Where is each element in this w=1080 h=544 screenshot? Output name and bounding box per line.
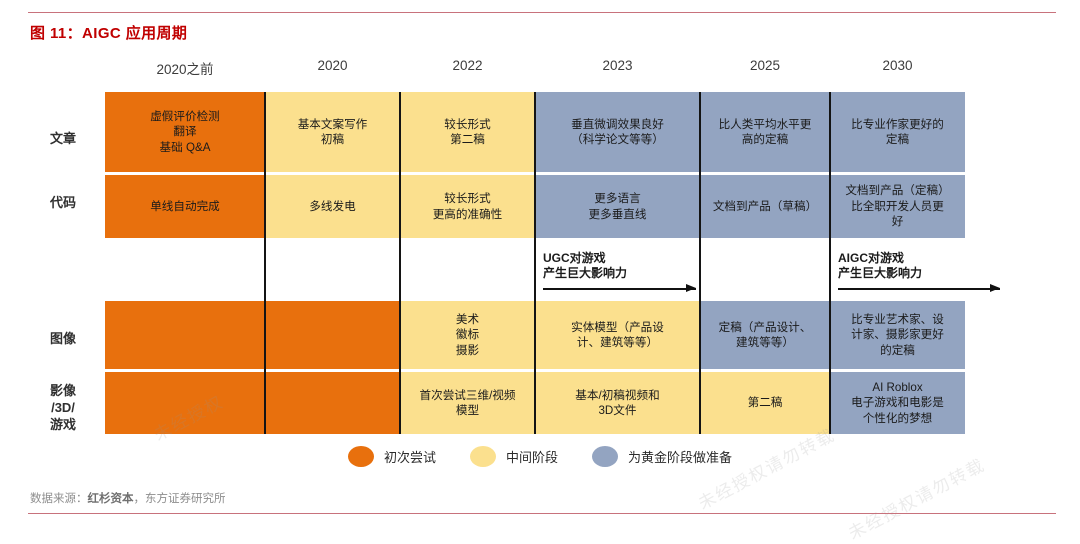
row-label-video-3d-games: 影像/3D/游戏 [24,382,102,433]
table-cell: 实体模型（产品设计、建筑等等） [535,301,700,369]
annotation-arrow-ugc [543,284,696,293]
column-header-2023: 2023 [535,58,700,73]
table-cell: 较长形式更高的准确性 [400,175,535,238]
row-label-images: 图像 [24,330,102,347]
figure-container: 图 11：AIGC 应用周期 2020之前 2020 2022 2023 202… [0,0,1080,522]
source-prefix: 数据来源： [30,493,88,505]
legend-item-intermediate: 中间阶段 [470,446,558,467]
column-divider [399,92,401,434]
table-cell: 多线发电 [265,175,400,238]
table-cell: 比人类平均水平更高的定稿 [700,92,830,172]
table-cell: 虚假评价检测翻译基础 Q&A [105,92,265,172]
annotation-aigc-impact: AIGC对游戏产生巨大影响力 [838,251,922,281]
column-divider [829,92,831,434]
table-cell: 文档到产品（定稿）比全职开发人员更好 [830,175,965,238]
table-cell: 比专业作家更好的定稿 [830,92,965,172]
table-cell [105,301,265,369]
watermark: 未经授权请勿转载 [693,421,839,514]
table-cell [265,372,400,434]
row-label-code: 代码 [24,194,102,211]
table-cell: 文档到产品（草稿） [700,175,830,238]
table-cell: 基本/初稿视频和3D文件 [535,372,700,434]
legend: 初次尝试 中间阶段 为黄金阶段做准备 [0,446,1080,467]
column-header-2022: 2022 [400,58,535,73]
source-rest: ，东方证券研究所 [134,493,226,505]
table-cell: 比专业艺术家、设计家、摄影家更好的定稿 [830,301,965,369]
legend-label: 中间阶段 [506,447,558,466]
column-header-2025: 2025 [700,58,830,73]
aigc-application-cycle-chart: 2020之前 2020 2022 2023 2025 2030 文章 代码 图像… [0,0,1080,522]
table-cell: 首次尝试三维/视频模型 [400,372,535,434]
source-note: 数据来源：红杉资本，东方证券研究所 [30,490,226,506]
legend-swatch-yellow-icon [470,446,496,467]
table-cell: 美术徽标摄影 [400,301,535,369]
legend-label: 初次尝试 [384,447,436,466]
table-cell: 第二稿 [700,372,830,434]
table-cell: 单线自动完成 [105,175,265,238]
column-header-2030: 2030 [830,58,965,73]
legend-swatch-orange-icon [348,446,374,467]
table-cell: 定稿（产品设计、建筑等等） [700,301,830,369]
legend-label: 为黄金阶段做准备 [628,447,732,466]
column-header-2020: 2020 [265,58,400,73]
column-divider [534,92,536,434]
column-divider [699,92,701,434]
column-header-2020-before: 2020之前 [105,58,265,78]
table-cell: 较长形式第二稿 [400,92,535,172]
table-cell: 垂直微调效果良好（科学论文等等） [535,92,700,172]
legend-item-first-attempt: 初次尝试 [348,446,436,467]
column-divider [264,92,266,434]
annotation-arrow-aigc [838,284,1000,293]
row-label-articles: 文章 [24,130,102,147]
legend-item-golden-prep: 为黄金阶段做准备 [592,446,732,467]
legend-swatch-blue-icon [592,446,618,467]
bottom-rule [28,513,1056,514]
table-cell: AI Roblox电子游戏和电影是个性化的梦想 [830,372,965,434]
table-cell [265,301,400,369]
table-cell [105,372,265,434]
source-bold: 红杉资本 [88,493,134,505]
table-cell: 更多语言更多垂直线 [535,175,700,238]
annotation-ugc-impact: UGC对游戏产生巨大影响力 [543,251,627,281]
table-cell: 基本文案写作初稿 [265,92,400,172]
